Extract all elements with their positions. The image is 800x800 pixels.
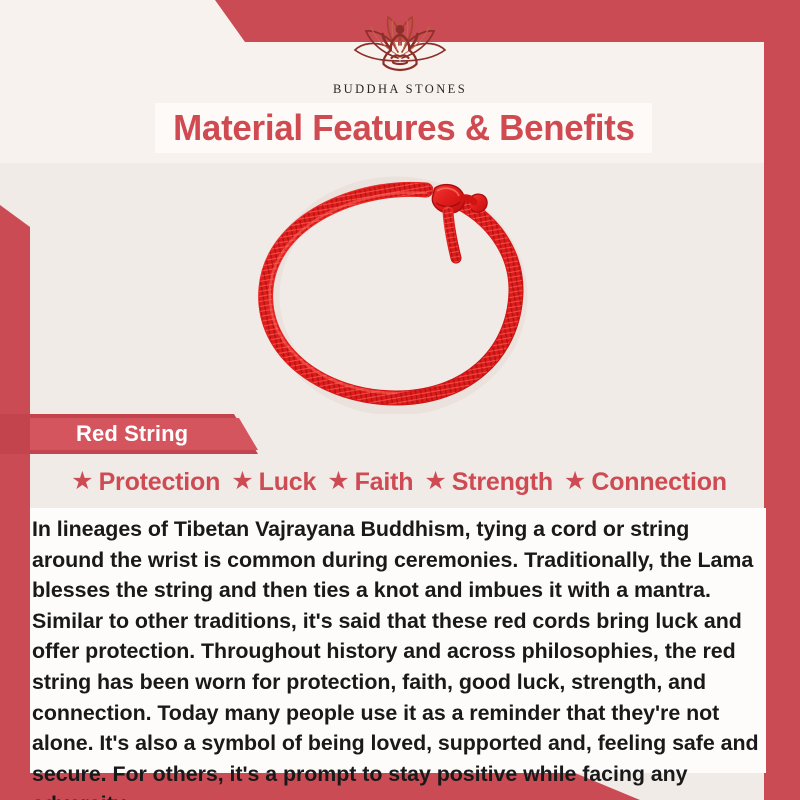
lotus-meditation-icon: [336, 14, 464, 80]
star-icon: ★: [424, 469, 446, 494]
benefit-item-connection: ★ Connection: [564, 468, 727, 497]
page-title: Material Features & Benefits: [155, 103, 652, 153]
red-string-bracelet-illustration: [230, 166, 570, 414]
page-title-text: Material Features & Benefits: [173, 107, 634, 149]
star-icon: ★: [231, 469, 253, 494]
infographic-root: BUDDHA STONES Material Features & Benefi…: [0, 0, 800, 800]
brand-name: BUDDHA STONES: [333, 82, 467, 97]
benefit-label: Luck: [259, 468, 317, 497]
benefits-row: ★ Protection ★ Luck ★ Faith ★ Strength ★…: [34, 463, 764, 501]
benefit-item-protection: ★ Protection: [71, 468, 220, 497]
benefit-item-faith: ★ Faith: [327, 468, 413, 497]
product-image: [0, 165, 800, 415]
section-label-text: Red String: [76, 421, 188, 447]
star-icon: ★: [564, 469, 586, 494]
benefit-label: Connection: [591, 468, 727, 497]
star-icon: ★: [327, 469, 349, 494]
benefit-label: Faith: [355, 468, 414, 497]
benefit-label: Strength: [452, 468, 553, 497]
benefit-item-strength: ★ Strength: [424, 468, 553, 497]
brand-logo: BUDDHA STONES: [0, 14, 800, 97]
section-label-banner: Red String: [0, 414, 258, 454]
benefit-item-luck: ★ Luck: [231, 468, 316, 497]
description-text: In lineages of Tibetan Vajrayana Buddhis…: [32, 514, 762, 800]
benefit-label: Protection: [99, 468, 221, 497]
star-icon: ★: [71, 469, 93, 494]
description-card: In lineages of Tibetan Vajrayana Buddhis…: [30, 508, 766, 773]
